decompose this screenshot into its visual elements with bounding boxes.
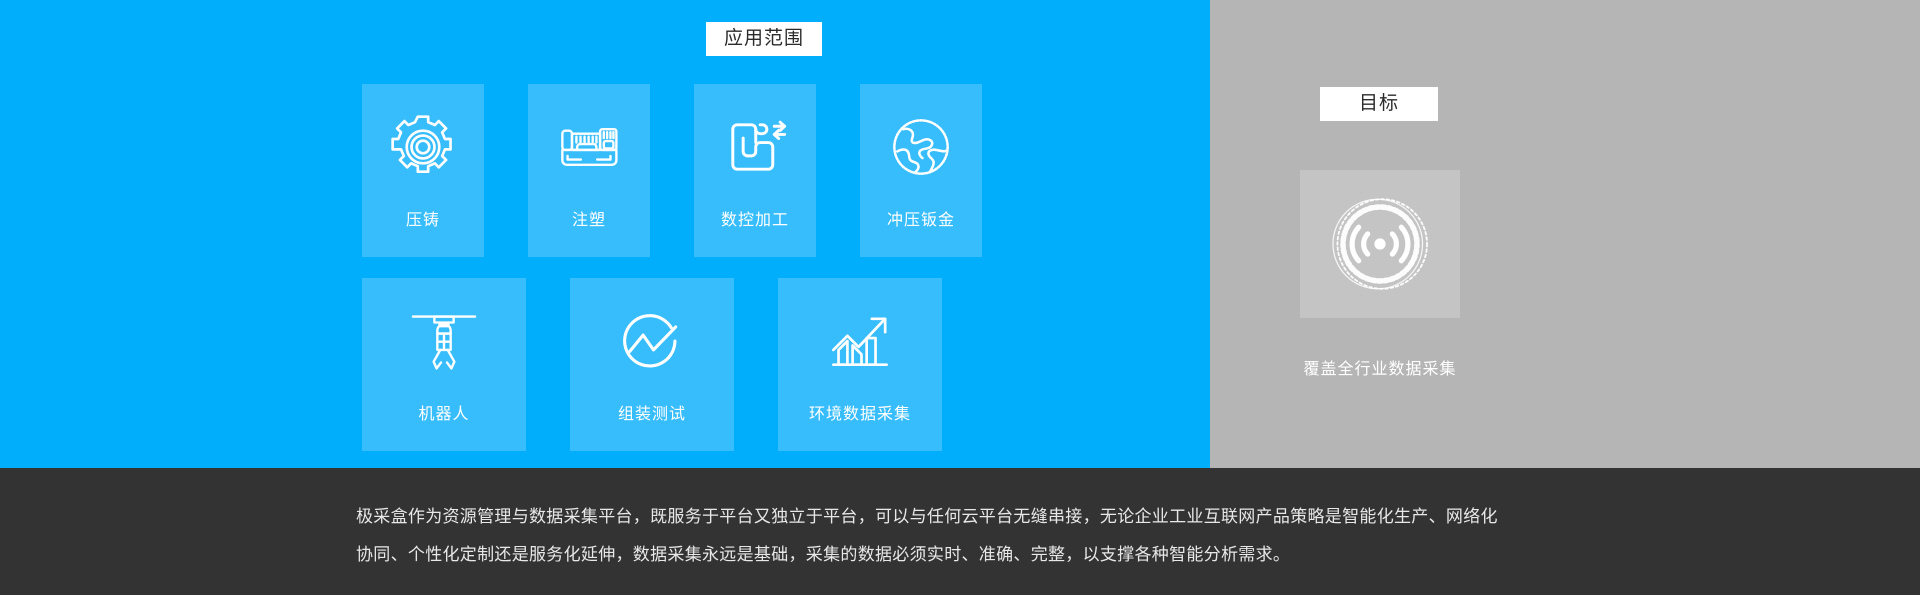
footer-band: 极采盒作为资源管理与数据采集平台，既服务于平台又独立于平台，可以与任何云平台无缝… bbox=[0, 468, 1920, 595]
scope-tile-label: 数控加工 bbox=[721, 206, 789, 230]
cnc-toolpath-icon bbox=[718, 110, 792, 184]
scope-tile-label: 冲压钣金 bbox=[887, 206, 955, 230]
scope-section-chip: 应用范围 bbox=[706, 22, 822, 56]
goal-panel: 目标 覆盖全行业数据采集 bbox=[1210, 0, 1920, 468]
scope-tile-robot[interactable]: 机器人 bbox=[362, 278, 526, 451]
scope-tile-row-2: 机器人 组装测试 bbox=[362, 278, 982, 451]
footer-line-1: 极采盒作为资源管理与数据采集平台，既服务于平台又独立于平台，可以与任何云平台无缝… bbox=[356, 498, 1576, 536]
footer-description: 极采盒作为资源管理与数据采集平台，既服务于平台又独立于平台，可以与任何云平台无缝… bbox=[356, 498, 1576, 574]
scope-tile-die-casting[interactable]: 压铸 bbox=[362, 84, 484, 257]
page-root: 应用范围 压铸 bbox=[0, 0, 1920, 595]
scope-tile-label: 注塑 bbox=[572, 206, 606, 230]
injection-molding-machine-icon bbox=[552, 110, 626, 184]
circle-waveform-icon bbox=[615, 304, 689, 378]
top-area: 应用范围 压铸 bbox=[0, 0, 1920, 468]
scope-tile-injection-molding[interactable]: 注塑 bbox=[528, 84, 650, 257]
wireless-signal-radial-icon bbox=[1324, 188, 1436, 300]
scope-tile-label: 压铸 bbox=[406, 206, 440, 230]
application-scope-panel: 应用范围 压铸 bbox=[0, 0, 1210, 468]
scope-tile-label: 环境数据采集 bbox=[809, 400, 911, 424]
scope-tile-stamping-sheet-metal[interactable]: 冲压钣金 bbox=[860, 84, 982, 257]
robot-gripper-icon bbox=[407, 304, 481, 378]
scope-tile-environment-data-collection[interactable]: 环境数据采集 bbox=[778, 278, 942, 451]
scope-tile-assembly-testing[interactable]: 组装测试 bbox=[570, 278, 734, 451]
footer-line-2: 协同、个性化定制还是服务化延伸，数据采集永远是基础，采集的数据必须实时、准确、完… bbox=[356, 536, 1576, 574]
globe-icon bbox=[884, 110, 958, 184]
goal-card[interactable] bbox=[1300, 170, 1460, 318]
goal-section-chip: 目标 bbox=[1320, 87, 1438, 121]
gear-icon bbox=[386, 110, 460, 184]
bar-chart-growth-icon bbox=[823, 304, 897, 378]
goal-caption: 覆盖全行业数据采集 bbox=[1210, 355, 1550, 379]
scope-tile-label: 组装测试 bbox=[618, 400, 686, 424]
scope-tile-grid: 压铸 bbox=[362, 84, 982, 472]
scope-tile-row-1: 压铸 bbox=[362, 84, 982, 257]
scope-tile-cnc-machining[interactable]: 数控加工 bbox=[694, 84, 816, 257]
scope-tile-label: 机器人 bbox=[418, 400, 469, 424]
